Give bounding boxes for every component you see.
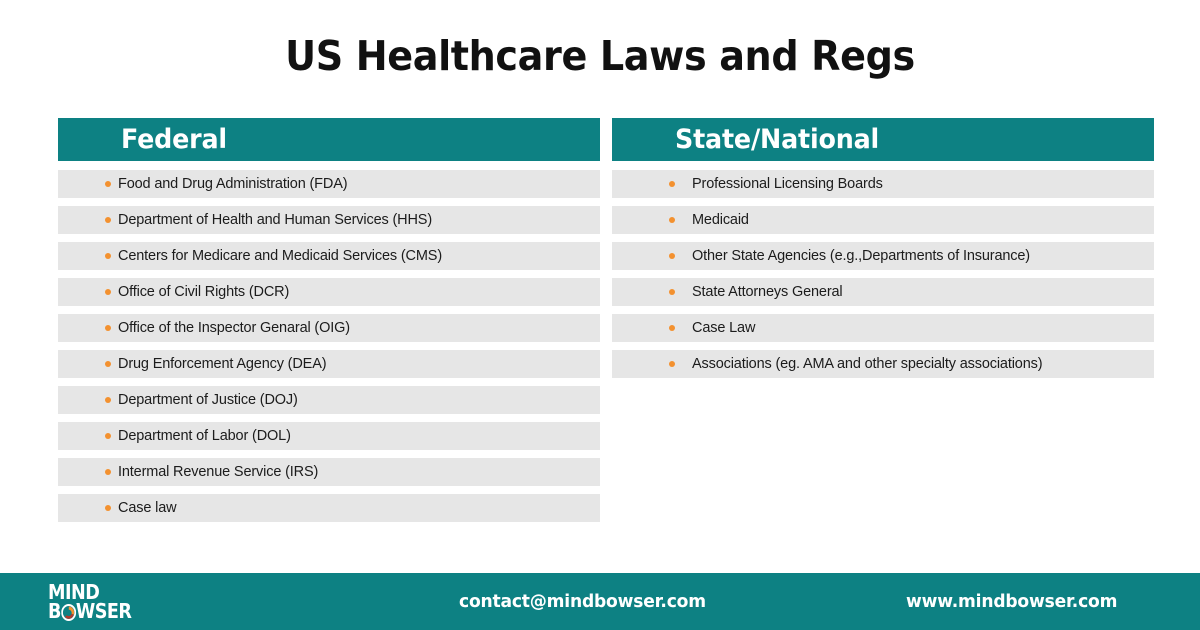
list-item-label: Medicaid bbox=[692, 213, 749, 228]
list-item-label: Department of Justice (DOJ) bbox=[118, 393, 298, 408]
list-item-label: Case Law bbox=[692, 321, 755, 336]
bullet-icon bbox=[105, 397, 111, 403]
slide-canvas: US Healthcare Laws and Regs Federal Food… bbox=[0, 0, 1200, 630]
list-item[interactable]: Intermal Revenue Service (IRS) bbox=[58, 458, 600, 486]
bullet-icon bbox=[105, 325, 111, 331]
list-item-label: State Attorneys General bbox=[692, 285, 843, 300]
list-item[interactable]: Case law bbox=[58, 494, 600, 522]
list-item-label: Professional Licensing Boards bbox=[692, 177, 883, 192]
bullet-icon bbox=[669, 217, 675, 223]
footer-contact-group: contact@mindbowser.com www.mindbowser.co… bbox=[0, 573, 1200, 630]
list-item-label: Other State Agencies (e.g.,Departments o… bbox=[692, 249, 1030, 264]
list-item[interactable]: Centers for Medicare and Medicaid Servic… bbox=[58, 242, 600, 270]
bullet-icon bbox=[105, 433, 111, 439]
list-item[interactable]: State Attorneys General bbox=[612, 278, 1154, 306]
list-federal: Food and Drug Administration (FDA) Depar… bbox=[58, 170, 600, 522]
list-item-label: Department of Health and Human Services … bbox=[118, 213, 432, 228]
list-item[interactable]: Medicaid bbox=[612, 206, 1154, 234]
list-item[interactable]: Department of Justice (DOJ) bbox=[58, 386, 600, 414]
list-item-label: Food and Drug Administration (FDA) bbox=[118, 177, 347, 192]
list-item[interactable]: Office of the Inspector Genaral (OIG) bbox=[58, 314, 600, 342]
column-header-state-national: State/National bbox=[612, 118, 1154, 161]
list-item[interactable]: Department of Labor (DOL) bbox=[58, 422, 600, 450]
list-item[interactable]: Drug Enforcement Agency (DEA) bbox=[58, 350, 600, 378]
footer-bar: MIND B WSER contact@mindbowser.com www.m… bbox=[0, 573, 1200, 630]
list-item-label: Office of the Inspector Genaral (OIG) bbox=[118, 321, 350, 336]
column-title-federal: Federal bbox=[121, 124, 227, 155]
list-item-label: Associations (eg. AMA and other specialt… bbox=[692, 357, 1042, 372]
bullet-icon bbox=[105, 181, 111, 187]
bullet-icon bbox=[105, 289, 111, 295]
list-item[interactable]: Case Law bbox=[612, 314, 1154, 342]
list-item[interactable]: Professional Licensing Boards bbox=[612, 170, 1154, 198]
bullet-icon bbox=[669, 325, 675, 331]
bullet-icon bbox=[669, 181, 675, 187]
list-item[interactable]: Other State Agencies (e.g.,Departments o… bbox=[612, 242, 1154, 270]
list-item[interactable]: Department of Health and Human Services … bbox=[58, 206, 600, 234]
page-title: US Healthcare Laws and Regs bbox=[42, 33, 1158, 80]
bullet-icon bbox=[669, 253, 675, 259]
list-item-label: Intermal Revenue Service (IRS) bbox=[118, 465, 318, 480]
list-item-label: Office of Civil Rights (DCR) bbox=[118, 285, 289, 300]
footer-website[interactable]: www.mindbowser.com bbox=[906, 591, 1117, 612]
bullet-icon bbox=[669, 289, 675, 295]
bullet-icon bbox=[105, 253, 111, 259]
bullet-icon bbox=[105, 217, 111, 223]
list-item[interactable]: Food and Drug Administration (FDA) bbox=[58, 170, 600, 198]
list-state-national: Professional Licensing Boards Medicaid O… bbox=[612, 170, 1154, 378]
column-state-national: State/National Professional Licensing Bo… bbox=[612, 118, 1154, 530]
columns-container: Federal Food and Drug Administration (FD… bbox=[58, 118, 1155, 530]
list-item-label: Case law bbox=[118, 501, 176, 516]
list-item[interactable]: Associations (eg. AMA and other specialt… bbox=[612, 350, 1154, 378]
column-federal: Federal Food and Drug Administration (FD… bbox=[58, 118, 600, 530]
list-item[interactable]: Office of Civil Rights (DCR) bbox=[58, 278, 600, 306]
footer-email[interactable]: contact@mindbowser.com bbox=[459, 591, 706, 612]
column-header-federal: Federal bbox=[58, 118, 600, 161]
list-item-label: Centers for Medicare and Medicaid Servic… bbox=[118, 249, 442, 264]
bullet-icon bbox=[669, 361, 675, 367]
bullet-icon bbox=[105, 505, 111, 511]
bullet-icon bbox=[105, 361, 111, 367]
column-title-state-national: State/National bbox=[675, 124, 879, 155]
list-item-label: Department of Labor (DOL) bbox=[118, 429, 291, 444]
list-item-label: Drug Enforcement Agency (DEA) bbox=[118, 357, 326, 372]
bullet-icon bbox=[105, 469, 111, 475]
